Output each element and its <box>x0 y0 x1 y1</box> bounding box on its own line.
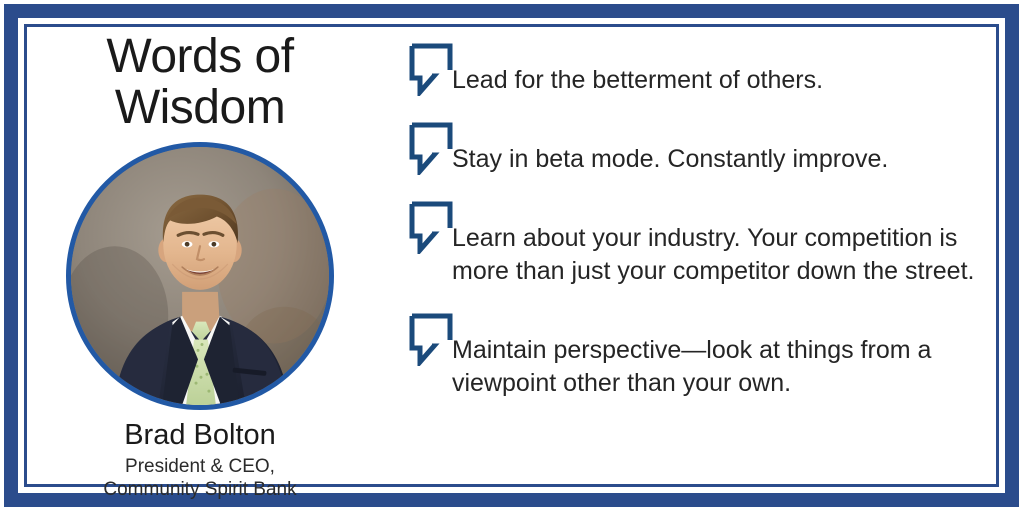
quote-text: Maintain perspective—look at things from… <box>452 310 992 400</box>
list-item: Lead for the betterment of others. <box>408 40 993 97</box>
portrait-image <box>71 147 329 405</box>
profile-column: Words of Wisdom <box>30 30 370 481</box>
quote-text: Lead for the betterment of others. <box>452 40 823 97</box>
person-name: Brad Bolton <box>124 420 276 452</box>
list-item: Stay in beta mode. Constantly improve. <box>408 119 993 176</box>
speech-bubble-icon <box>408 121 454 175</box>
words-of-wisdom-slide: Words of Wisdom <box>0 0 1024 512</box>
list-item: Maintain perspective—look at things from… <box>408 310 993 400</box>
list-item: Learn about your industry. Your competit… <box>408 198 993 288</box>
avatar <box>66 142 334 410</box>
page-title: Words of Wisdom <box>50 32 350 134</box>
slide-content: Words of Wisdom <box>30 30 993 481</box>
speech-bubble-icon <box>408 42 454 96</box>
speech-bubble-icon <box>408 200 454 254</box>
speech-bubble-icon <box>408 312 454 366</box>
quote-text: Learn about your industry. Your competit… <box>452 198 992 288</box>
quote-list: Lead for the betterment of others. Stay … <box>370 30 993 481</box>
quote-text: Stay in beta mode. Constantly improve. <box>452 119 888 176</box>
person-role: President & CEO, Community Spirit Bank <box>103 455 296 501</box>
portrait-container <box>66 142 334 410</box>
person-role-line-2: Community Spirit Bank <box>103 478 296 501</box>
person-role-line-1: President & CEO, <box>103 455 296 478</box>
